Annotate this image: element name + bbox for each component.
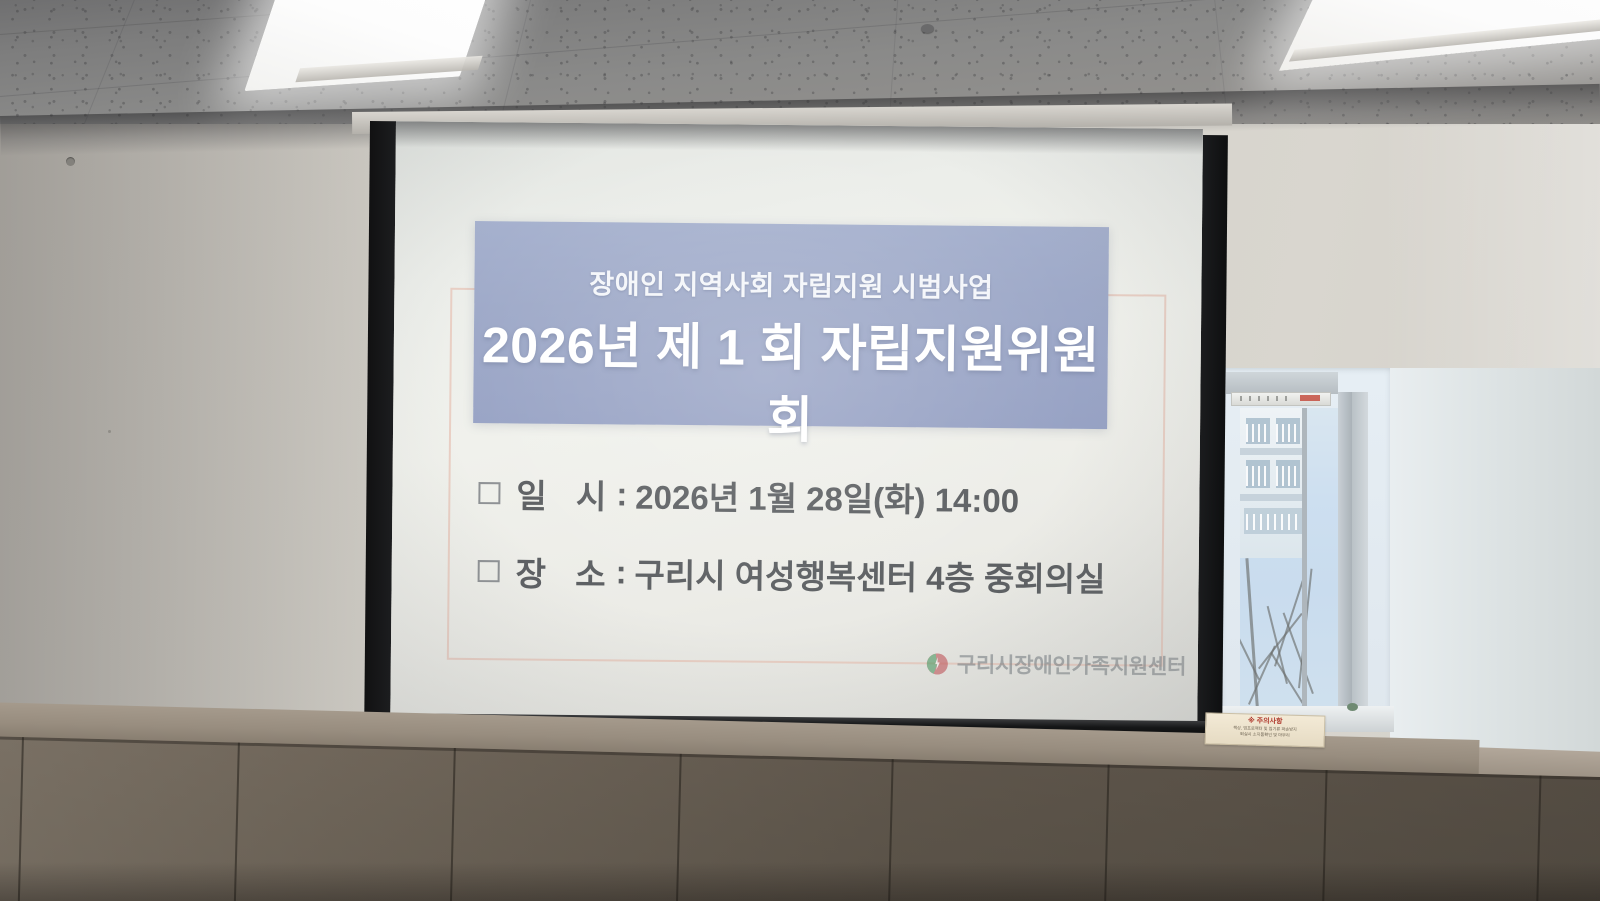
window-frame-right-outer [1352, 392, 1368, 722]
window-mullion [1302, 408, 1307, 710]
window-glass [1240, 408, 1338, 710]
exterior-building [1240, 408, 1306, 558]
screen-vignette [390, 121, 1203, 723]
wall-fixture-screw-icon [66, 157, 75, 166]
right-wall-return [1390, 368, 1600, 768]
projection-screen[interactable]: 장애인 지역사회 자립지원 시범사업 2026년 제 1 회 자립지원위원회 일… [364, 121, 1228, 741]
wall-shadow-left [0, 124, 420, 764]
blind-warning-label [1300, 395, 1320, 401]
lower-shadow [0, 862, 1600, 901]
window-sill-fitting-icon [1347, 703, 1358, 711]
meeting-room-scene: 장애인 지역사회 자립지원 시범사업 2026년 제 1 회 자립지원위원회 일… [0, 0, 1600, 901]
window-header [1226, 372, 1338, 394]
blind-control-strip [1240, 396, 1292, 401]
wall-blemish [108, 430, 111, 433]
notice-sign: ※ 주의사항 책상, 빔프로젝터 및 집기류 파손방지 퇴실시 소지품확인 및 … [1205, 712, 1326, 747]
screen-surface: 장애인 지역사회 자립지원 시범사업 2026년 제 1 회 자립지원위원회 일… [390, 121, 1203, 723]
ceiling-sensor-icon [921, 24, 934, 33]
window-frame-right [1338, 392, 1352, 722]
